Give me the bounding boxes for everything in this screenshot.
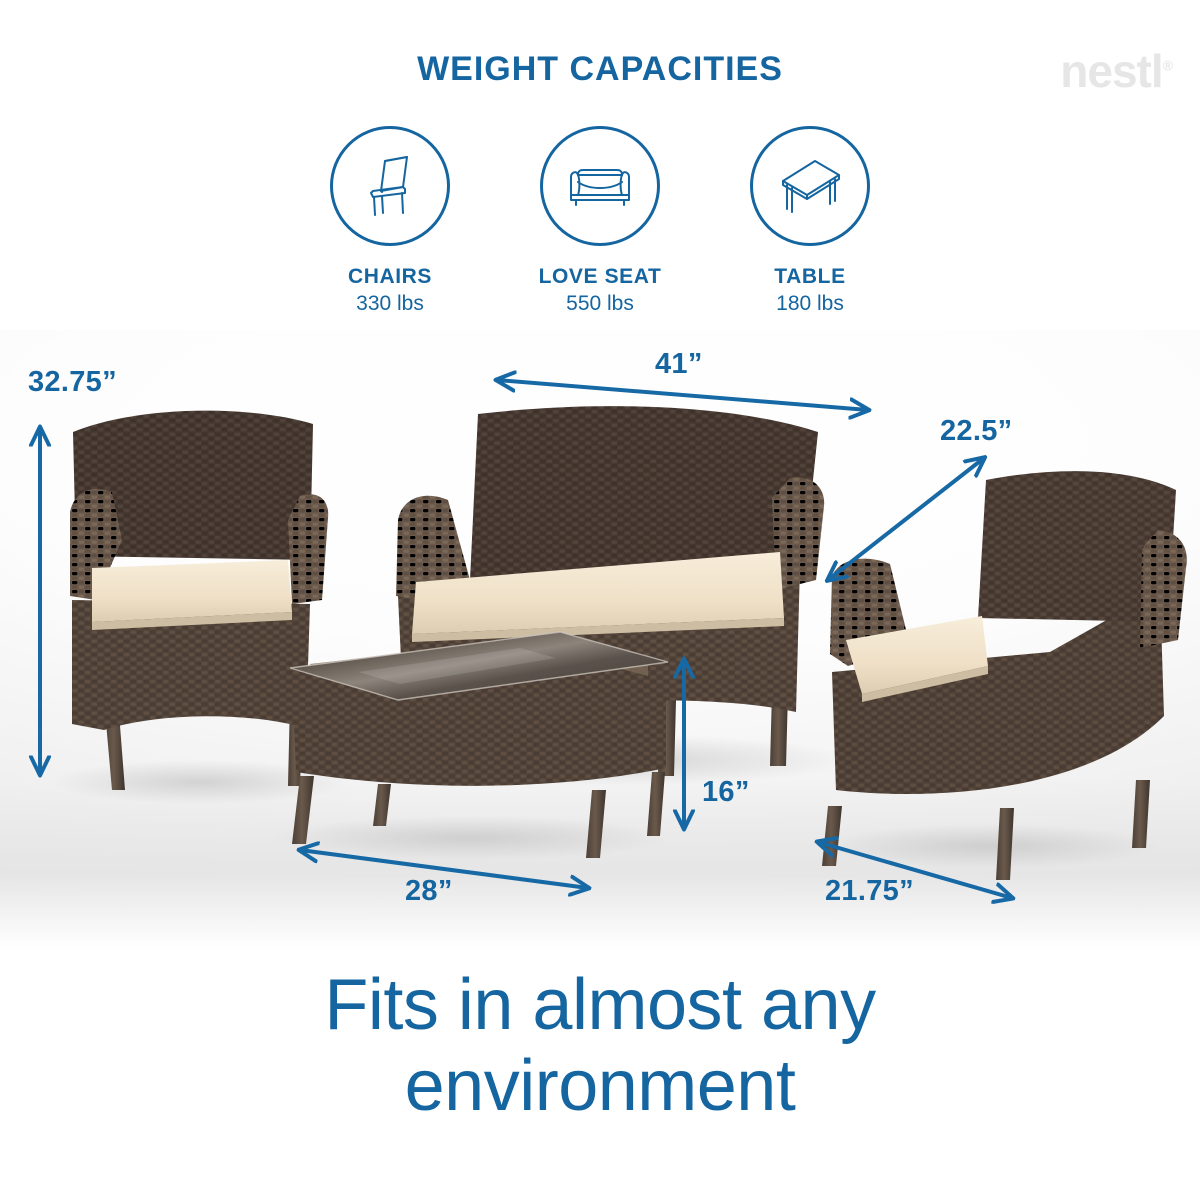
marketing-headline: Fits in almost any environment <box>0 965 1200 1126</box>
arrow-loveseat-width <box>497 380 868 410</box>
dimension-label-chair-width: 21.75” <box>825 875 914 908</box>
dimension-label-chair-height: 32.75” <box>28 366 117 399</box>
headline-line-2: environment <box>0 1046 1200 1127</box>
chair-arm-right <box>1140 530 1187 648</box>
chair-cushion <box>92 560 292 622</box>
chair-leg <box>822 806 842 866</box>
dimension-label-table-width: 28” <box>405 875 453 908</box>
armchair-right <box>822 471 1187 880</box>
dimension-label-loveseat-width: 41” <box>655 348 703 381</box>
armchair-left <box>70 411 328 790</box>
headline-line-1: Fits in almost any <box>0 965 1200 1046</box>
dimension-label-table-height: 16” <box>702 776 750 809</box>
arrow-chair-depth <box>828 458 984 580</box>
chair-arm-right <box>288 494 328 604</box>
chair-leg <box>996 808 1014 880</box>
dimension-label-chair-depth: 22.5” <box>940 415 1012 448</box>
